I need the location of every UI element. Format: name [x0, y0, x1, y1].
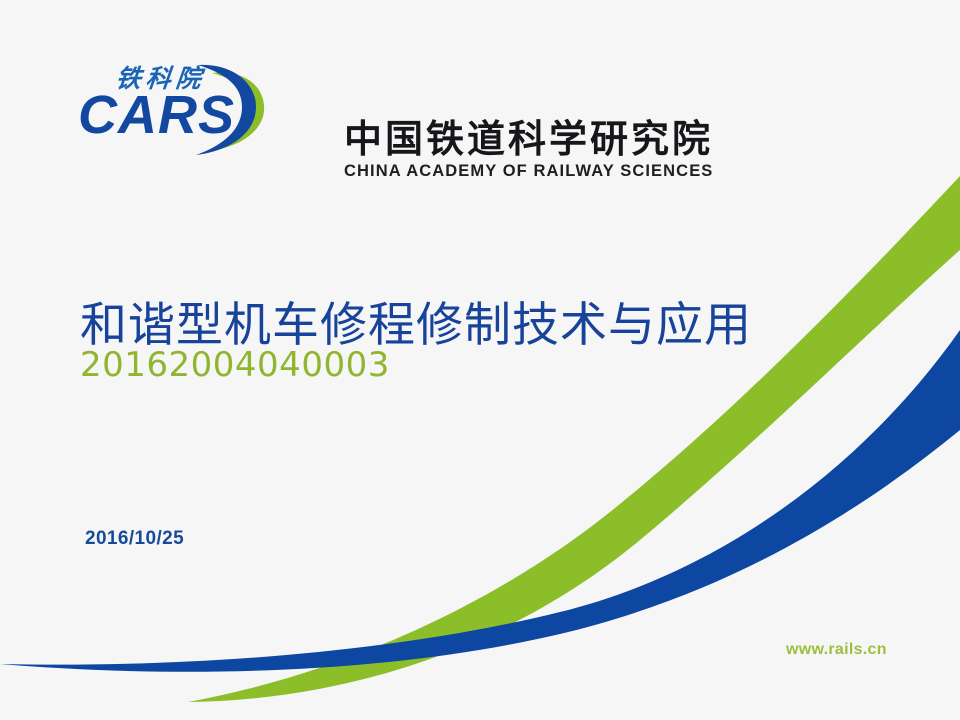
swoosh-icon — [194, 57, 270, 157]
organization-name-cn: 中国铁道科学研究院 — [344, 119, 713, 160]
project-code: 20162004040003 — [80, 345, 390, 385]
footer-website-url: www.rails.cn — [786, 641, 887, 659]
organization-name: 中国铁道科学研究院 CHINA ACADEMY OF RAILWAY SCIEN… — [344, 119, 713, 181]
cars-logo-mark: 铁科院 CARS — [78, 57, 264, 157]
green-ribbon-shape — [188, 176, 960, 702]
brand-logo: 铁科院 CARS 中国铁道科学研究院 CHINA ACADEMY OF RAIL… — [78, 57, 264, 157]
presentation-date: 2016/10/25 — [85, 528, 184, 550]
organization-name-en: CHINA ACADEMY OF RAILWAY SCIENCES — [344, 162, 713, 181]
presentation-title-slide: 铁科院 CARS 中国铁道科学研究院 CHINA ACADEMY OF RAIL… — [0, 0, 960, 720]
